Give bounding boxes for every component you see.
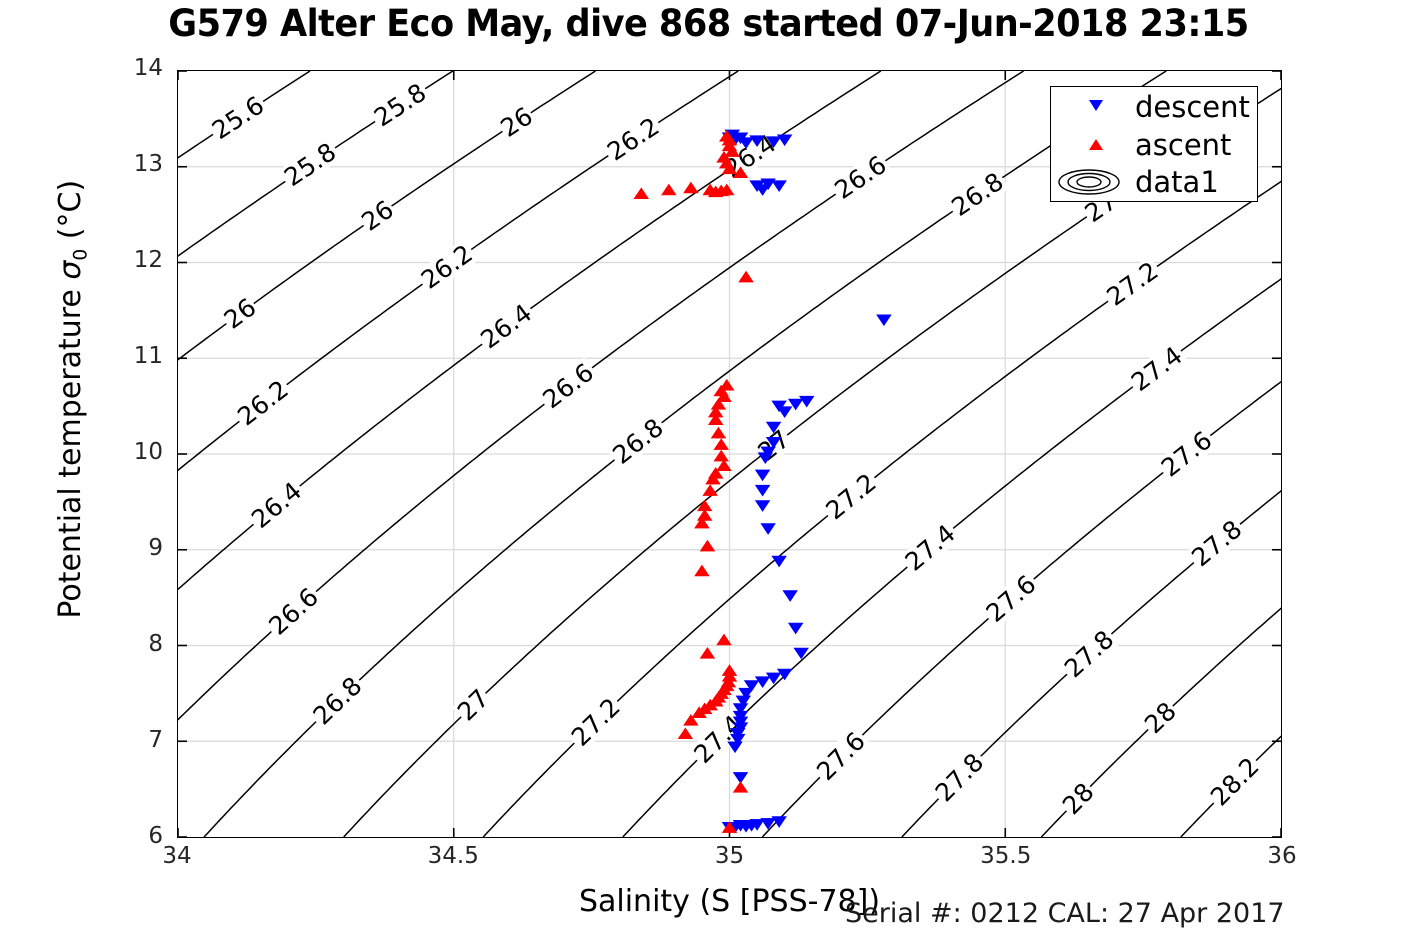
svg-text:26: 26 (495, 101, 537, 143)
marker-descent (755, 485, 769, 496)
y-tick-12: 12 (0, 247, 163, 273)
y-axis-label: Potential temperature σ0 (°C) (53, 119, 92, 679)
marker-ascent (634, 188, 648, 199)
y-tick-13: 13 (0, 151, 163, 177)
y-tick-9: 9 (0, 535, 163, 561)
marker-ascent (697, 510, 711, 521)
chart-title: G579 Alter Eco May, dive 868 started 07-… (0, 2, 1417, 45)
marker-ascent (678, 728, 692, 739)
marker-ascent (714, 439, 728, 450)
marker-descent (755, 501, 769, 512)
svg-text:26: 26 (219, 293, 262, 335)
marker-descent (761, 524, 775, 535)
legend-item-ascent[interactable]: ascent (1051, 126, 1259, 164)
x-tick-35: 35 (670, 843, 790, 869)
marker-descent (755, 470, 769, 481)
y-tick-11: 11 (0, 343, 163, 369)
serial-annotation: Serial #: 0212 CAL: 27 Apr 2017 (845, 898, 1285, 929)
marker-descent (877, 315, 891, 326)
marker-descent (772, 817, 786, 828)
marker-ascent (703, 485, 717, 496)
marker-ascent (733, 782, 747, 793)
marker-ascent (722, 665, 736, 676)
marker-descent (772, 181, 786, 192)
marker-ascent (700, 648, 714, 659)
legend[interactable]: descent ascent data1 (1050, 86, 1258, 202)
marker-ascent (711, 427, 725, 438)
down-triangle-icon (1057, 88, 1135, 126)
y-tick-10: 10 (0, 439, 163, 465)
marker-ascent (695, 565, 709, 576)
y-tick-8: 8 (0, 631, 163, 657)
legend-item-descent[interactable]: descent (1051, 88, 1259, 126)
marker-descent (777, 407, 791, 418)
y-tick-7: 7 (0, 727, 163, 753)
x-tick-34: 34 (117, 843, 237, 869)
marker-ascent (739, 271, 753, 282)
x-tick-35.5: 35.5 (946, 843, 1066, 869)
legend-label-ascent: ascent (1135, 126, 1231, 164)
marker-descent (783, 591, 797, 602)
marker-ascent (684, 182, 698, 193)
marker-descent (761, 818, 775, 829)
contour-rings-icon (1057, 163, 1135, 201)
legend-item-data1[interactable]: data1 (1051, 163, 1259, 201)
up-triangle-icon (1057, 126, 1135, 164)
x-tick-34.5: 34.5 (393, 843, 513, 869)
marker-descent (800, 396, 814, 407)
x-tick-36: 36 (1222, 843, 1342, 869)
svg-text:26: 26 (356, 195, 399, 237)
marker-ascent (700, 540, 714, 551)
marker-descent (794, 648, 808, 659)
marker-descent (788, 623, 802, 634)
legend-label-descent: descent (1135, 88, 1250, 126)
marker-ascent (714, 450, 728, 461)
y-axis-label-suffix: (°C) (53, 180, 88, 249)
legend-label-data1: data1 (1135, 163, 1219, 201)
y-tick-14: 14 (0, 55, 163, 81)
marker-descent (777, 135, 791, 146)
marker-ascent (662, 184, 676, 195)
